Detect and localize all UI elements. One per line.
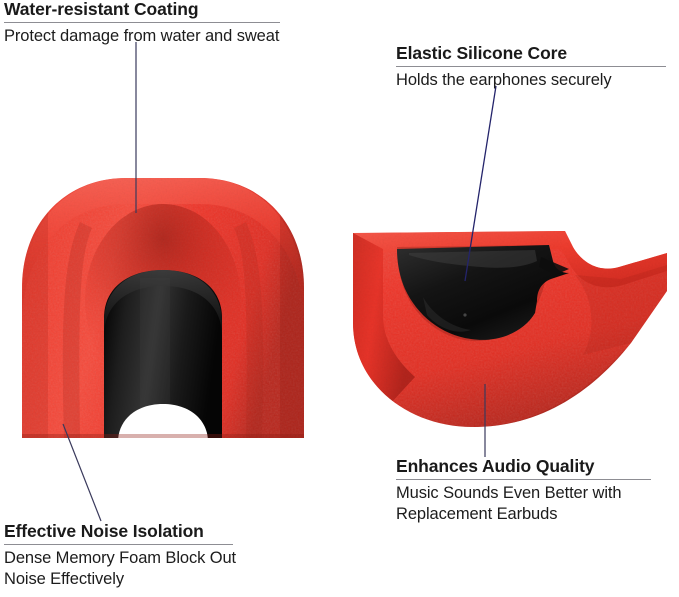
callout-elastic-silicone-core: Elastic Silicone Core Holds the earphone… [396, 44, 668, 91]
callout-divider [4, 544, 233, 545]
callout-body: Dense Memory Foam Block Out Noise Effect… [4, 548, 250, 591]
callout-body: Protect damage from water and sweat [4, 26, 290, 47]
callout-body: Music Sounds Even Better with Replacemen… [396, 483, 658, 526]
callout-title: Enhances Audio Quality [396, 457, 658, 476]
callout-title: Effective Noise Isolation [4, 522, 250, 541]
infographic-canvas: Water-resistant Coating Protect damage f… [0, 0, 679, 597]
callout-body: Holds the earphones securely [396, 70, 668, 91]
callout-body-line: Dense Memory Foam Block Out [4, 548, 250, 569]
callout-water-resistant-coating: Water-resistant Coating Protect damage f… [4, 0, 290, 47]
callout-body-line: Noise Effectively [4, 569, 250, 590]
callout-enhances-audio-quality: Enhances Audio Quality Music Sounds Even… [396, 457, 658, 526]
callout-body-line: Music Sounds Even Better with [396, 483, 658, 504]
callout-body-line: Replacement Earbuds [396, 504, 658, 525]
callout-title: Elastic Silicone Core [396, 44, 668, 63]
callout-divider [396, 479, 651, 480]
callout-divider [396, 66, 666, 67]
product-image-cross-section [345, 205, 675, 440]
product-image-arch-view [8, 170, 318, 455]
callout-divider [4, 22, 280, 23]
callout-effective-noise-isolation: Effective Noise Isolation Dense Memory F… [4, 522, 250, 591]
callout-title: Water-resistant Coating [4, 0, 290, 19]
